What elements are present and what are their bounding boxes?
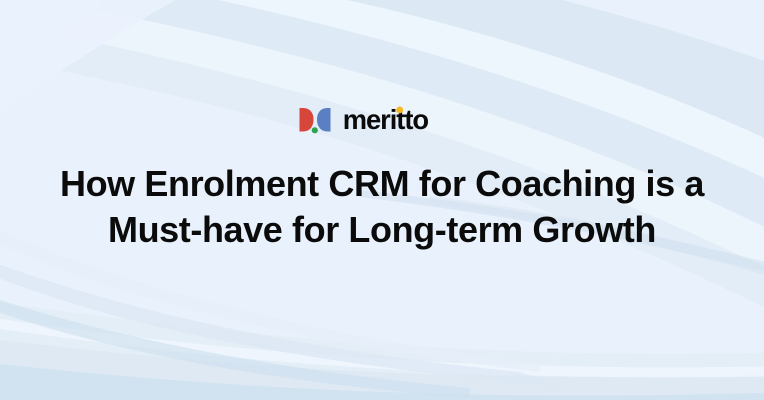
- banner-content: meritto How Enrolment CRM for Coaching i…: [0, 0, 764, 400]
- meritto-wordmark: meritto: [335, 105, 467, 135]
- meritto-logo-mark: [298, 106, 332, 134]
- headline-line-1: How Enrolment CRM for Coaching is a: [60, 161, 704, 207]
- meritto-logo: meritto: [298, 103, 467, 137]
- page-title: How Enrolment CRM for Coaching is a Must…: [60, 161, 704, 253]
- headline-line-2: Must-have for Long-term Growth: [60, 207, 704, 253]
- meritto-wordmark-text: meritto: [342, 105, 428, 135]
- wordmark-i-dot: [396, 107, 403, 114]
- blog-banner: meritto How Enrolment CRM for Coaching i…: [0, 0, 764, 400]
